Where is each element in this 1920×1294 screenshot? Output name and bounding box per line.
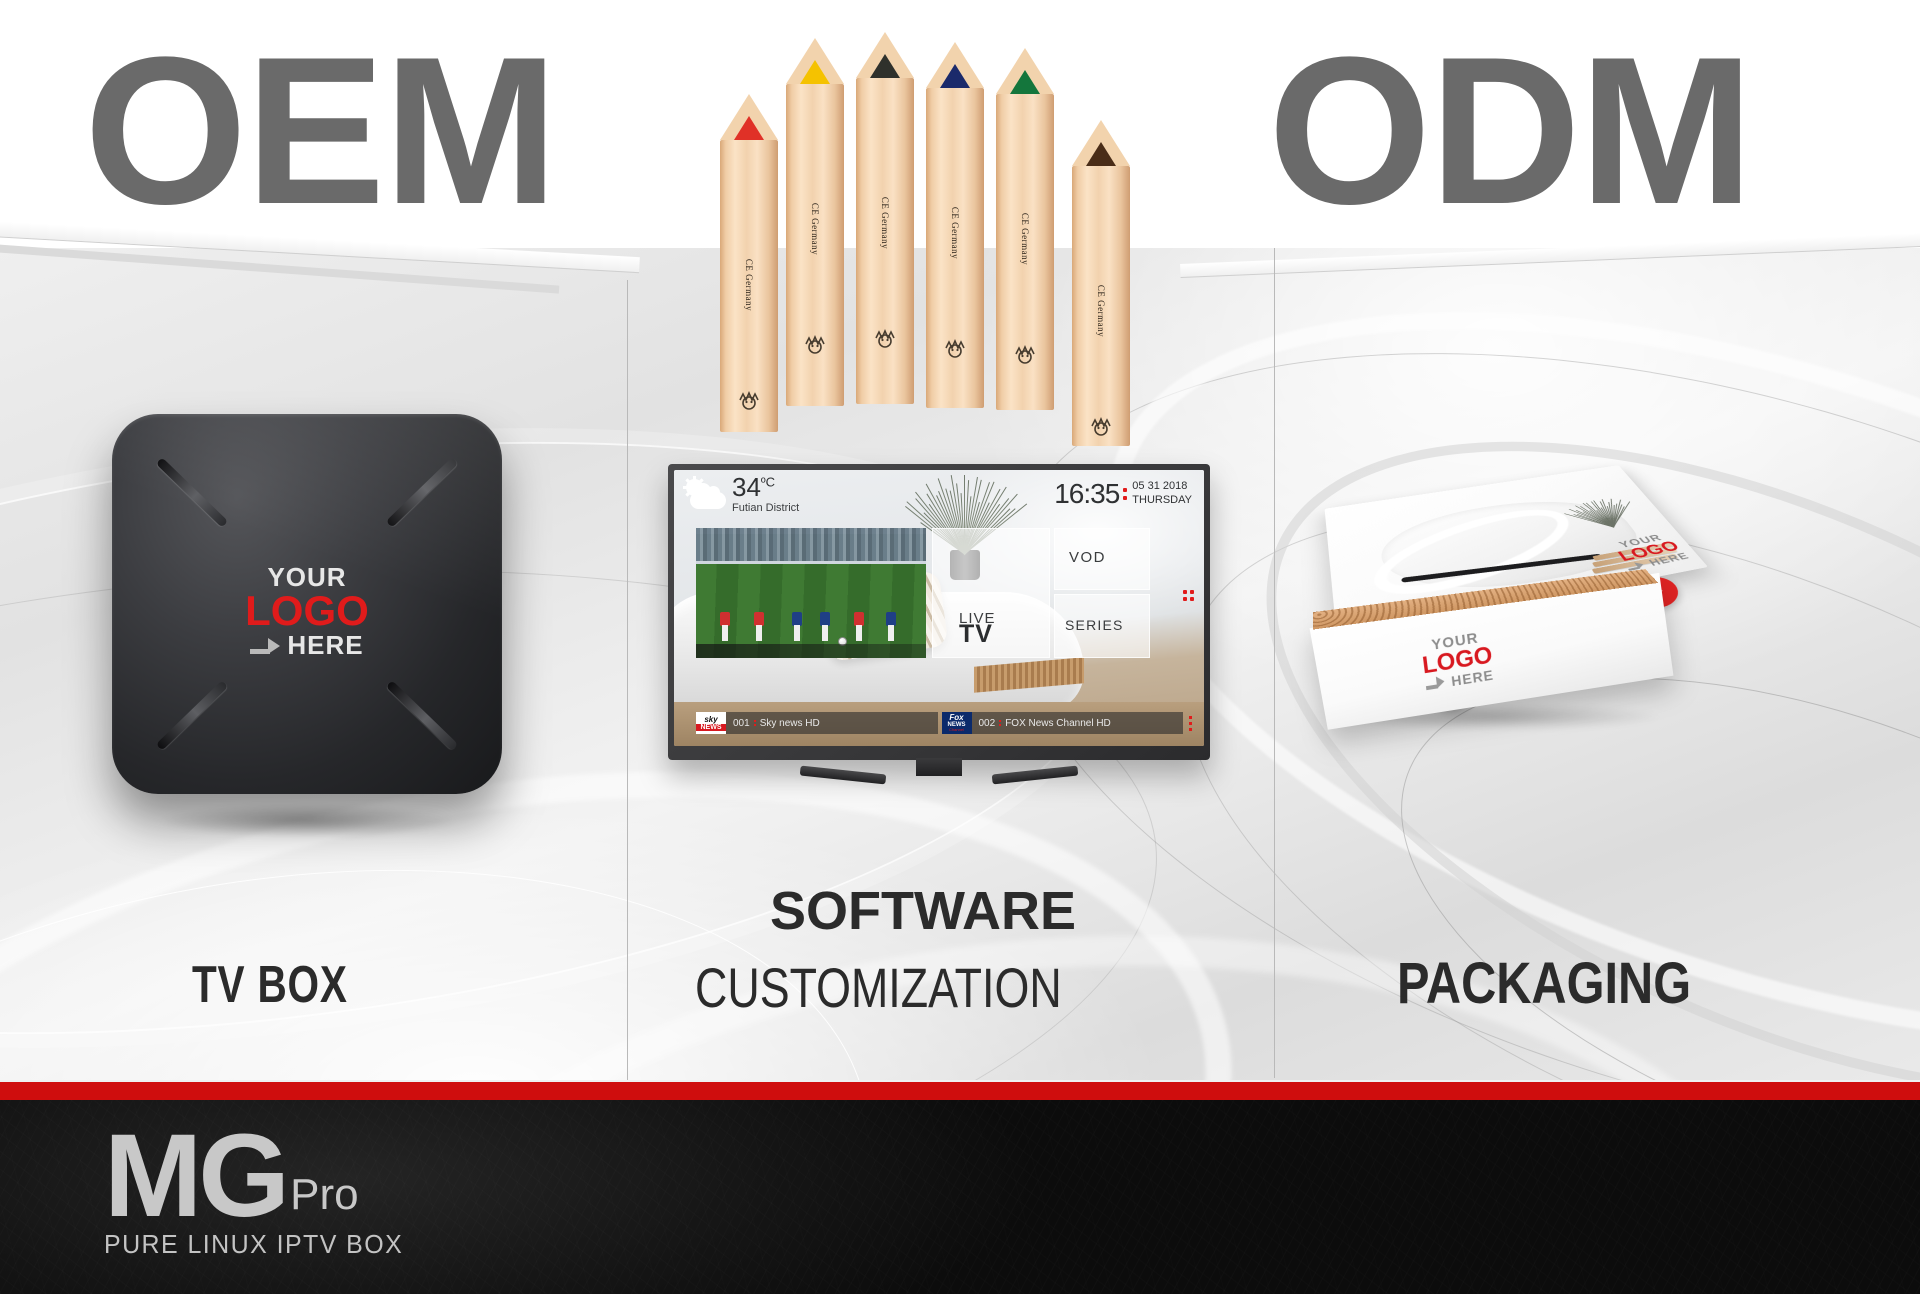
brand-tagline: PURE LINUX IPTV BOX xyxy=(104,1229,403,1260)
caption-software: SOFTWARE xyxy=(770,880,1076,942)
tv-stand-foot xyxy=(992,766,1079,785)
pencil-ce-germany-label: CE Germany xyxy=(744,259,754,311)
pencil-ce-germany-label: CE Germany xyxy=(1096,285,1106,337)
vent-notch xyxy=(386,457,458,527)
fox-news-logo-icon: Fox NEWS Channel xyxy=(942,712,972,734)
sky-logo-line2: NEWS xyxy=(696,724,726,731)
tv-box-shadow xyxy=(158,804,458,838)
channel-item[interactable]: Fox NEWS Channel 002 FOX News Channel HD xyxy=(942,712,1184,734)
red-colon-separator-icon xyxy=(1123,488,1127,500)
pencil: CE Germany xyxy=(786,84,844,406)
soccer-player xyxy=(754,612,764,642)
red-colon-icon xyxy=(754,720,756,726)
fox-logo-line1: Fox xyxy=(949,714,963,722)
tile-vod-label: VOD xyxy=(1069,549,1106,566)
tv-stand-neck xyxy=(916,758,962,776)
clock-weekday: THURSDAY xyxy=(1132,494,1192,508)
channel-number: 001 xyxy=(733,718,750,729)
sky-news-logo-icon: sky NEWS xyxy=(696,712,726,734)
tv-box-product: YOUR LOGO HERE xyxy=(100,400,520,820)
brand-name-row: MG Pro xyxy=(104,1126,416,1227)
clock-date: 05 31 2018 xyxy=(1132,480,1192,494)
temperature-value: 34ºC xyxy=(732,474,799,500)
pencil-crest-icon xyxy=(942,338,968,360)
sun-behind-cloud-icon xyxy=(684,479,726,509)
pencil: CE Germany xyxy=(856,78,914,404)
pencil-lead-tip xyxy=(1086,142,1116,166)
channel-strip: sky NEWS 001 Sky news HD Fox NEWS Channe… xyxy=(696,712,1192,734)
colored-pencils-group: CE GermanyCE GermanyCE GermanyCE Germany… xyxy=(720,60,1160,420)
arrow-right-icon xyxy=(1425,675,1445,692)
pencil-ce-germany-label: CE Germany xyxy=(810,203,820,255)
brand-name: MG xyxy=(104,1126,286,1227)
logo-line-your: YOUR xyxy=(112,564,502,590)
pencil-crest-icon xyxy=(1012,344,1038,366)
soccer-player xyxy=(820,612,830,642)
pencil: CE Germany xyxy=(1072,166,1130,446)
caption-customization: CUSTOMIZATION xyxy=(695,955,1062,1020)
tv-product: 34ºC Futian District 16:35 05 31 2018 TH… xyxy=(668,464,1210,784)
tile-live-tv[interactable]: LIVE TV xyxy=(932,528,1050,658)
temperature-number: 34 xyxy=(732,472,761,502)
channel-number: 002 xyxy=(979,718,996,729)
packaging-product: YOUR LOGO HERE YOUR LOGO HERE xyxy=(1300,436,1720,736)
vent-notch xyxy=(156,457,228,527)
channel-more-dots-icon[interactable] xyxy=(1189,712,1192,734)
pencil-lead-tip xyxy=(870,54,900,78)
logo-here-text: HERE xyxy=(287,632,363,658)
banner-canvas: OEM ODM CE GermanyCE GermanyCE GermanyCE… xyxy=(0,0,1920,1294)
pencil-lead-tip xyxy=(940,64,970,88)
caption-packaging: PACKAGING xyxy=(1397,950,1691,1017)
brand-suffix: Pro xyxy=(290,1173,358,1217)
packaging-front-logo-placeholder: YOUR LOGO HERE xyxy=(1419,629,1495,693)
pencil-ce-germany-label: CE Germany xyxy=(1020,213,1030,265)
accent-bar xyxy=(0,1082,1920,1100)
clock-block: 16:35 05 31 2018 THURSDAY xyxy=(1054,480,1192,508)
more-dots-icon[interactable] xyxy=(1183,590,1194,601)
stadium-barrier xyxy=(696,561,926,564)
soccer-player xyxy=(792,612,802,642)
pencil: CE Germany xyxy=(720,140,778,432)
vent-notch xyxy=(386,680,458,750)
sky-logo-line1: sky xyxy=(704,716,717,724)
clock-date-block: 05 31 2018 THURSDAY xyxy=(1132,480,1192,508)
tv-box-body: YOUR LOGO HERE xyxy=(112,414,502,794)
pencil: CE Germany xyxy=(996,94,1054,410)
tv-bezel: 34ºC Futian District 16:35 05 31 2018 TH… xyxy=(668,464,1210,760)
temperature-unit: ºC xyxy=(761,474,775,489)
pencil-crest-icon xyxy=(1088,416,1114,438)
section-divider-right xyxy=(1274,248,1275,1078)
heading-odm: ODM xyxy=(1268,26,1752,236)
stadium-crowd xyxy=(696,528,926,562)
clock-time: 16:35 xyxy=(1054,480,1119,508)
fox-logo-line3: Channel xyxy=(949,728,964,732)
weather-block: 34ºC Futian District xyxy=(732,474,799,514)
pencil-lead-tip xyxy=(1010,70,1040,94)
soccer-player xyxy=(886,612,896,642)
tile-vod[interactable]: VOD xyxy=(1054,528,1150,590)
tv-screen: 34ºC Futian District 16:35 05 31 2018 TH… xyxy=(674,470,1204,746)
video-overlay-bar xyxy=(696,644,926,658)
pencil-ce-germany-label: CE Germany xyxy=(880,197,890,249)
tv-status-bar: 34ºC Futian District 16:35 05 31 2018 TH… xyxy=(674,470,1204,518)
logo-line-logo: LOGO xyxy=(112,590,502,632)
pencil-crest-icon xyxy=(736,390,762,412)
pencil-lead-tip xyxy=(800,60,830,84)
packaging-base: YOUR LOGO HERE xyxy=(1316,582,1668,708)
soccer-player xyxy=(854,612,864,642)
pencil-lead-tip xyxy=(734,116,764,140)
pencil-crest-icon xyxy=(802,334,828,356)
channel-item[interactable]: sky NEWS 001 Sky news HD xyxy=(696,712,938,734)
pencil-ce-germany-label: CE Germany xyxy=(950,207,960,259)
live-video-preview[interactable] xyxy=(696,528,926,658)
channel-name: Sky news HD xyxy=(760,718,820,729)
tile-series[interactable]: SERIES xyxy=(1054,594,1150,658)
tv-box-logo-placeholder: YOUR LOGO HERE xyxy=(112,564,502,658)
soccer-player xyxy=(720,612,730,642)
channel-name: FOX News Channel HD xyxy=(1005,718,1111,729)
caption-tv-box: TV BOX xyxy=(192,955,348,1015)
weather-location: Futian District xyxy=(732,502,799,514)
vent-notch xyxy=(156,680,228,750)
heading-oem: OEM xyxy=(84,26,556,236)
arrow-right-icon xyxy=(250,632,280,658)
section-divider-left xyxy=(627,280,628,1080)
brand-lockup: MG Pro PURE LINUX IPTV BOX xyxy=(104,1126,416,1260)
pencil-crest-icon xyxy=(872,328,898,350)
footer-bar: MG Pro PURE LINUX IPTV BOX Personalize y… xyxy=(0,1100,1920,1294)
red-colon-icon xyxy=(999,720,1001,726)
tile-live-label-big: TV xyxy=(959,620,993,649)
logo-line-here: HERE xyxy=(112,632,502,658)
pencil: CE Germany xyxy=(926,88,984,408)
tile-series-label: SERIES xyxy=(1065,617,1124,633)
tv-stand-foot xyxy=(800,766,887,785)
